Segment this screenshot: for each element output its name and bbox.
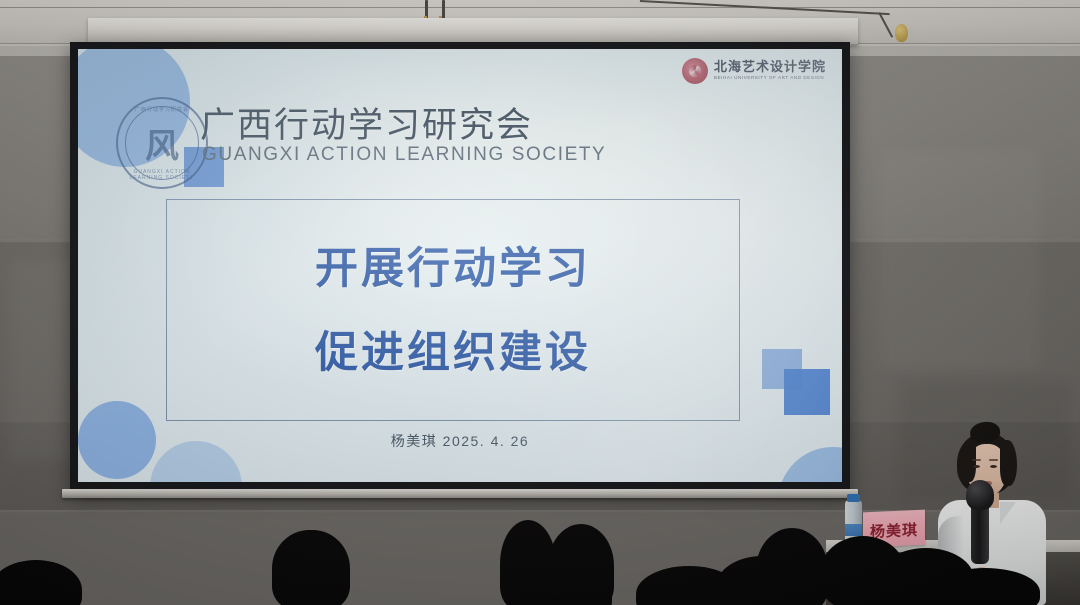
presenter-brow-left: [972, 459, 981, 461]
slide-main-line-2: 促进组织建设: [167, 318, 739, 380]
decor-square-front: [784, 369, 830, 415]
seal-arc-bottom-text: GUANGXI ACTION LEARNING SOCIETY: [118, 169, 206, 181]
university-name-cn: 北海艺术设计学院: [714, 61, 826, 75]
presenter-hair-strand-left: [960, 440, 976, 482]
slide-main-line-1: 开展行动学习: [167, 234, 739, 296]
university-name-en: BEIHAI UNIVERSITY OF ART AND DESIGN: [714, 76, 826, 81]
presentation-slide: 广西行动学习研究会 风 GUANGXI ACTION LEARNING SOCI…: [78, 49, 842, 482]
audience-head: [756, 528, 828, 605]
presenter-eye-left: [973, 465, 980, 468]
university-logo-text: 北海艺术设计学院 BEIHAI UNIVERSITY OF ART AND DE…: [714, 61, 826, 81]
water-bottle-cap: [847, 494, 860, 502]
screen-bottom-weight-bar: [62, 489, 858, 498]
society-seal-logo: 广西行动学习研究会 风 GUANGXI ACTION LEARNING SOCI…: [116, 97, 208, 189]
seal-glyph: 风: [118, 119, 206, 168]
projector-screen-roller: [88, 18, 858, 45]
university-swirl-icon: [682, 58, 708, 84]
water-bottle-label: [845, 524, 862, 536]
slide-content-frame: 开展行动学习 促进组织建设: [166, 199, 740, 421]
presenter-hair-strand-right: [1000, 440, 1017, 486]
microphone-head-icon: [966, 480, 994, 510]
university-logo: 北海艺术设计学院 BEIHAI UNIVERSITY OF ART AND DE…: [682, 58, 826, 84]
audience-head: [272, 530, 350, 605]
lecture-hall-scene: 广西行动学习研究会 风 GUANGXI ACTION LEARNING SOCI…: [0, 0, 1080, 605]
presenter-eye-right: [990, 465, 997, 468]
seal-arc-top-text: 广西行动学习研究会: [118, 106, 206, 113]
presenter-brow-right: [989, 459, 998, 461]
slide-org-title-en: GUANGXI ACTION LEARNING SOCIETY: [202, 144, 606, 166]
slide-org-title-cn: 广西行动学习研究会: [200, 97, 533, 148]
presenter-collar-right: [1000, 502, 1016, 524]
decor-circle-bottomright: [778, 447, 842, 482]
projection-screen: 广西行动学习研究会 风 GUANGXI ACTION LEARNING SOCI…: [70, 42, 850, 492]
slide-byline: 杨美琪 2025. 4. 26: [78, 431, 842, 451]
ceiling-hook-right: [895, 24, 908, 42]
